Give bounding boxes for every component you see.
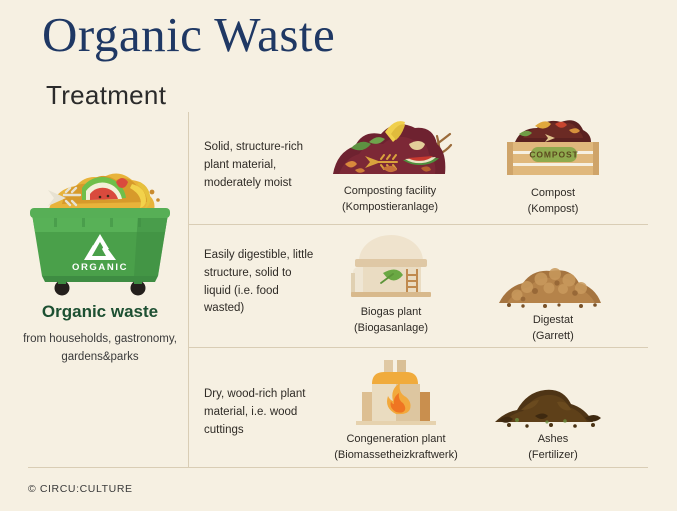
row-1-output-name: Compost <box>531 187 575 199</box>
digestate-pile-icon <box>493 255 613 309</box>
source-title: Organic waste <box>20 302 180 322</box>
bin-label: ORGANIC <box>72 262 128 273</box>
page-title: Organic Waste <box>42 8 335 62</box>
row-1-output: COMPOST Compost (Kompost) <box>478 116 628 218</box>
row-3-output-caption: Ashes (Fertilizer) <box>478 432 628 464</box>
row-1-process: Composting facility (Kompostieranlage) <box>310 118 470 216</box>
cogeneration-plant-flame-icon <box>350 358 442 428</box>
biogas-dome-plant-icon <box>339 229 443 301</box>
row-3-process-german: (Biomassetheizkraftwerk) <box>334 449 457 461</box>
ash-pile-icon <box>491 376 615 428</box>
row-2-description: Easily digestible, little structure, sol… <box>204 247 316 318</box>
infographic-canvas: Organic Waste Treatment <box>0 0 677 511</box>
row-3-process-caption: Congeneration plant (Biomassetheizkraftw… <box>310 432 482 464</box>
row-2-output-caption: Digestat (Garrett) <box>473 313 633 345</box>
row-1-output-german: (Kompost) <box>528 203 579 215</box>
row-3-process-name: Congeneration plant <box>346 433 445 445</box>
source-description: from households, gastronomy, gardens&par… <box>20 331 180 367</box>
row-3-output-name: Ashes <box>538 433 569 445</box>
compost-pile-icon <box>325 118 455 180</box>
treatment-row-2: Easily digestible, little structure, sol… <box>188 225 648 347</box>
row-2-output-name: Digestat <box>533 314 573 326</box>
row-2-output-german: (Garrett) <box>532 330 574 342</box>
compost-crate-icon: COMPOST <box>499 116 607 182</box>
row-1-process-name: Composting facility <box>344 185 436 197</box>
treatment-row-3: Dry, wood-rich plant material, i.e. wood… <box>188 348 648 467</box>
crate-label: COMPOST <box>529 150 578 160</box>
row-2-output: Energy <box>473 239 633 345</box>
row-2-process-name: Biogas plant <box>361 306 422 318</box>
row-2-process-caption: Biogas plant (Biogasanlage) <box>316 305 466 337</box>
row-1-process-german: (Kompostieranlage) <box>342 201 438 213</box>
organic-waste-source: ORGANIC Organic waste from households, g… <box>20 148 180 367</box>
footer-divider <box>28 467 648 468</box>
row-2-process: Biogas plant (Biogasanlage) <box>316 229 466 337</box>
treatment-row-1: Solid, structure-rich plant material, mo… <box>188 112 648 224</box>
row-1-description: Solid, structure-rich plant material, mo… <box>204 139 316 192</box>
row-3-description: Dry, wood-rich plant material, i.e. wood… <box>204 386 316 439</box>
organic-waste-bin-icon: ORGANIC <box>20 148 180 298</box>
row-2-process-german: (Biogasanlage) <box>354 322 428 334</box>
row-3-output: Energy <box>478 362 628 464</box>
row-1-process-caption: Composting facility (Kompostieranlage) <box>310 184 470 216</box>
row-1-output-caption: Compost (Kompost) <box>478 186 628 218</box>
row-3-output-german: (Fertilizer) <box>528 449 578 461</box>
copyright-footer: © CIRCU:CULTURE <box>28 483 133 495</box>
row-3-process: Congeneration plant (Biomassetheizkraftw… <box>310 358 482 464</box>
page-subtitle: Treatment <box>46 80 166 111</box>
